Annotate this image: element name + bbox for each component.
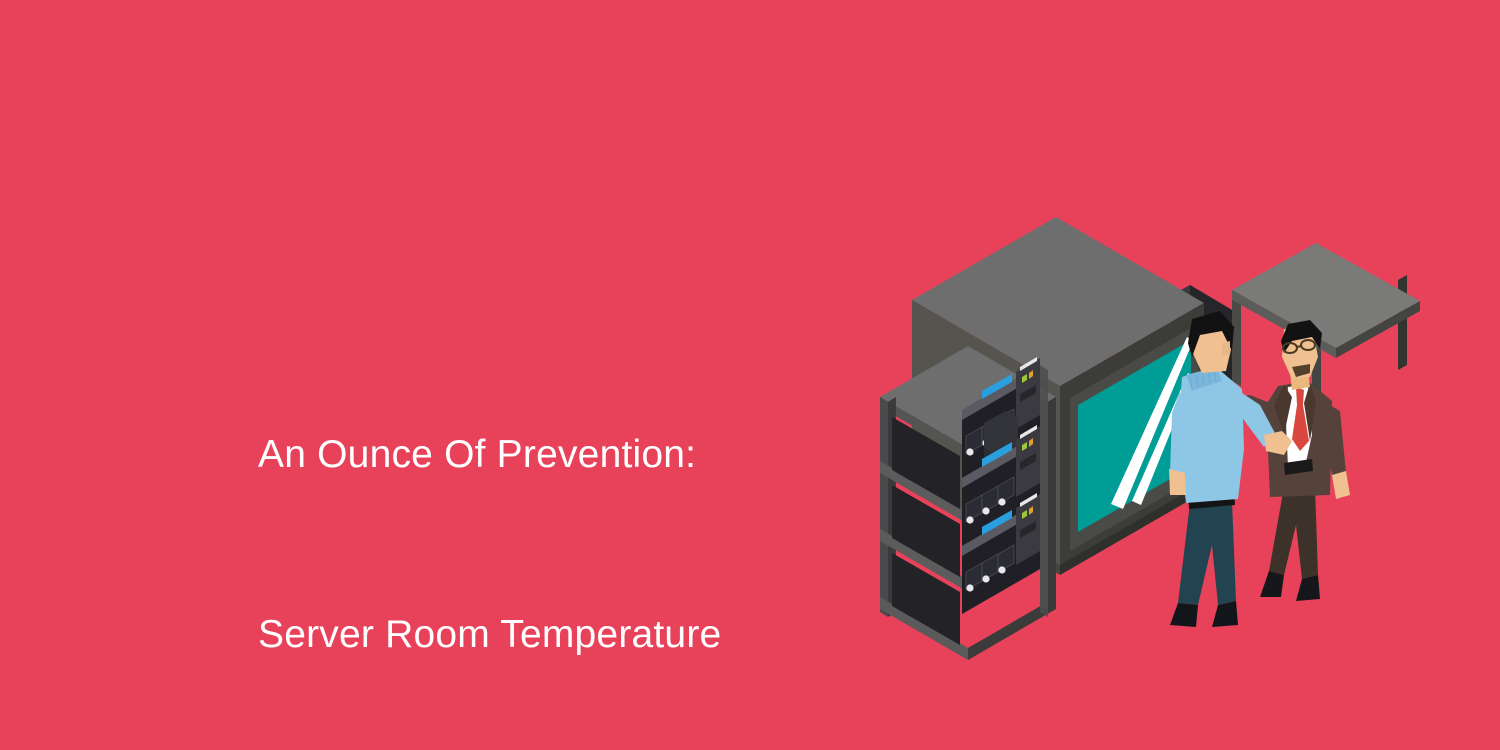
server-room-illustration (860, 105, 1440, 665)
small-server-rack (880, 346, 1056, 660)
manager-shoe-left (1260, 571, 1284, 597)
technician-shoe-left (1170, 603, 1198, 627)
page-title: An Ounce Of Prevention: Server Room Temp… (258, 305, 878, 750)
technician-jeans (1178, 501, 1236, 605)
manager-shoe-right (1296, 575, 1320, 601)
manager-right-hand (1332, 471, 1350, 499)
headline-line-2: Server Room Temperature (258, 605, 878, 665)
hero-banner: An Ounce Of Prevention: Server Room Temp… (0, 0, 1500, 750)
technician-sweater (1178, 367, 1244, 503)
manager-trousers (1269, 487, 1318, 579)
technician-left-hand (1169, 469, 1186, 495)
headline-line-1: An Ounce Of Prevention: (258, 425, 878, 485)
technician-shoe-right (1212, 601, 1238, 627)
